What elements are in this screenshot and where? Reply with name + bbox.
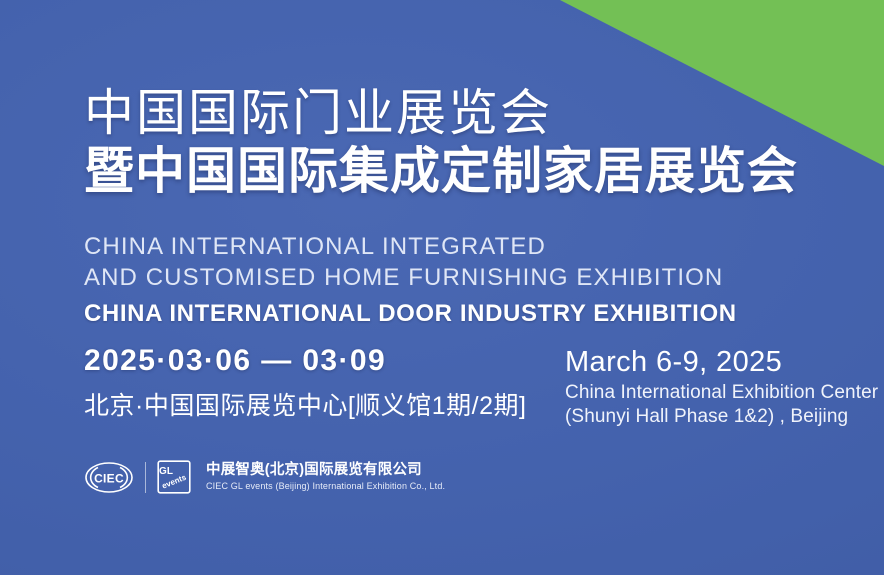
organizer-logo-lockup: CIEC GL events 中展智奥(北京)国际展览有限公司 CIEC GL … bbox=[84, 460, 445, 494]
event-info-chinese: 2025·03·06 — 03·09 北京·中国国际展览中心[顺义馆1期/2期] bbox=[84, 344, 526, 422]
logo-divider bbox=[145, 462, 146, 493]
event-date-english: March 6-9, 2025 bbox=[565, 346, 878, 379]
company-name-english: CIEC GL events (Beijing) International E… bbox=[206, 481, 445, 492]
subtitle-line-3: CHINA INTERNATIONAL DOOR INDUSTRY EXHIBI… bbox=[84, 300, 737, 328]
company-name-chinese: 中展智奥(北京)国际展览有限公司 bbox=[206, 462, 445, 479]
svg-text:GL: GL bbox=[159, 466, 173, 477]
event-venue-english-line-2: (Shunyi Hall Phase 1&2) , Beijing bbox=[565, 405, 878, 429]
poster-content: 中国国际门业展览会 暨中国国际集成定制家居展览会 CHINA INTERNATI… bbox=[84, 0, 884, 575]
headline-chinese: 中国国际门业展览会 暨中国国际集成定制家居展览会 bbox=[84, 88, 798, 196]
event-date-chinese: 2025·03·06 — 03·09 bbox=[84, 344, 526, 378]
event-venue-english-line-1: China International Exhibition Center bbox=[565, 381, 878, 405]
event-venue-chinese: 北京·中国国际展览中心[顺义馆1期/2期] bbox=[84, 386, 526, 422]
exhibition-poster: 中国国际门业展览会 暨中国国际集成定制家居展览会 CHINA INTERNATI… bbox=[0, 0, 884, 575]
subtitle-line-1: CHINA INTERNATIONAL INTEGRATED bbox=[84, 232, 737, 263]
organizer-company-name: 中展智奥(北京)国际展览有限公司 CIEC GL events (Beijing… bbox=[206, 462, 445, 492]
headline-line-2: 暨中国国际集成定制家居展览会 bbox=[84, 146, 798, 196]
event-info-english: March 6-9, 2025 China International Exhi… bbox=[565, 346, 878, 429]
ciec-logo-icon: CIEC bbox=[84, 461, 134, 494]
subtitle-english: CHINA INTERNATIONAL INTEGRATED AND CUSTO… bbox=[84, 232, 737, 328]
gl-events-logo-icon: GL events bbox=[157, 460, 191, 494]
svg-text:CIEC: CIEC bbox=[94, 471, 124, 485]
subtitle-line-2: AND CUSTOMISED HOME FURNISHING EXHIBITIO… bbox=[84, 263, 737, 294]
event-info-row: 2025·03·06 — 03·09 北京·中国国际展览中心[顺义馆1期/2期]… bbox=[84, 344, 884, 424]
headline-line-1: 中国国际门业展览会 bbox=[84, 88, 798, 138]
